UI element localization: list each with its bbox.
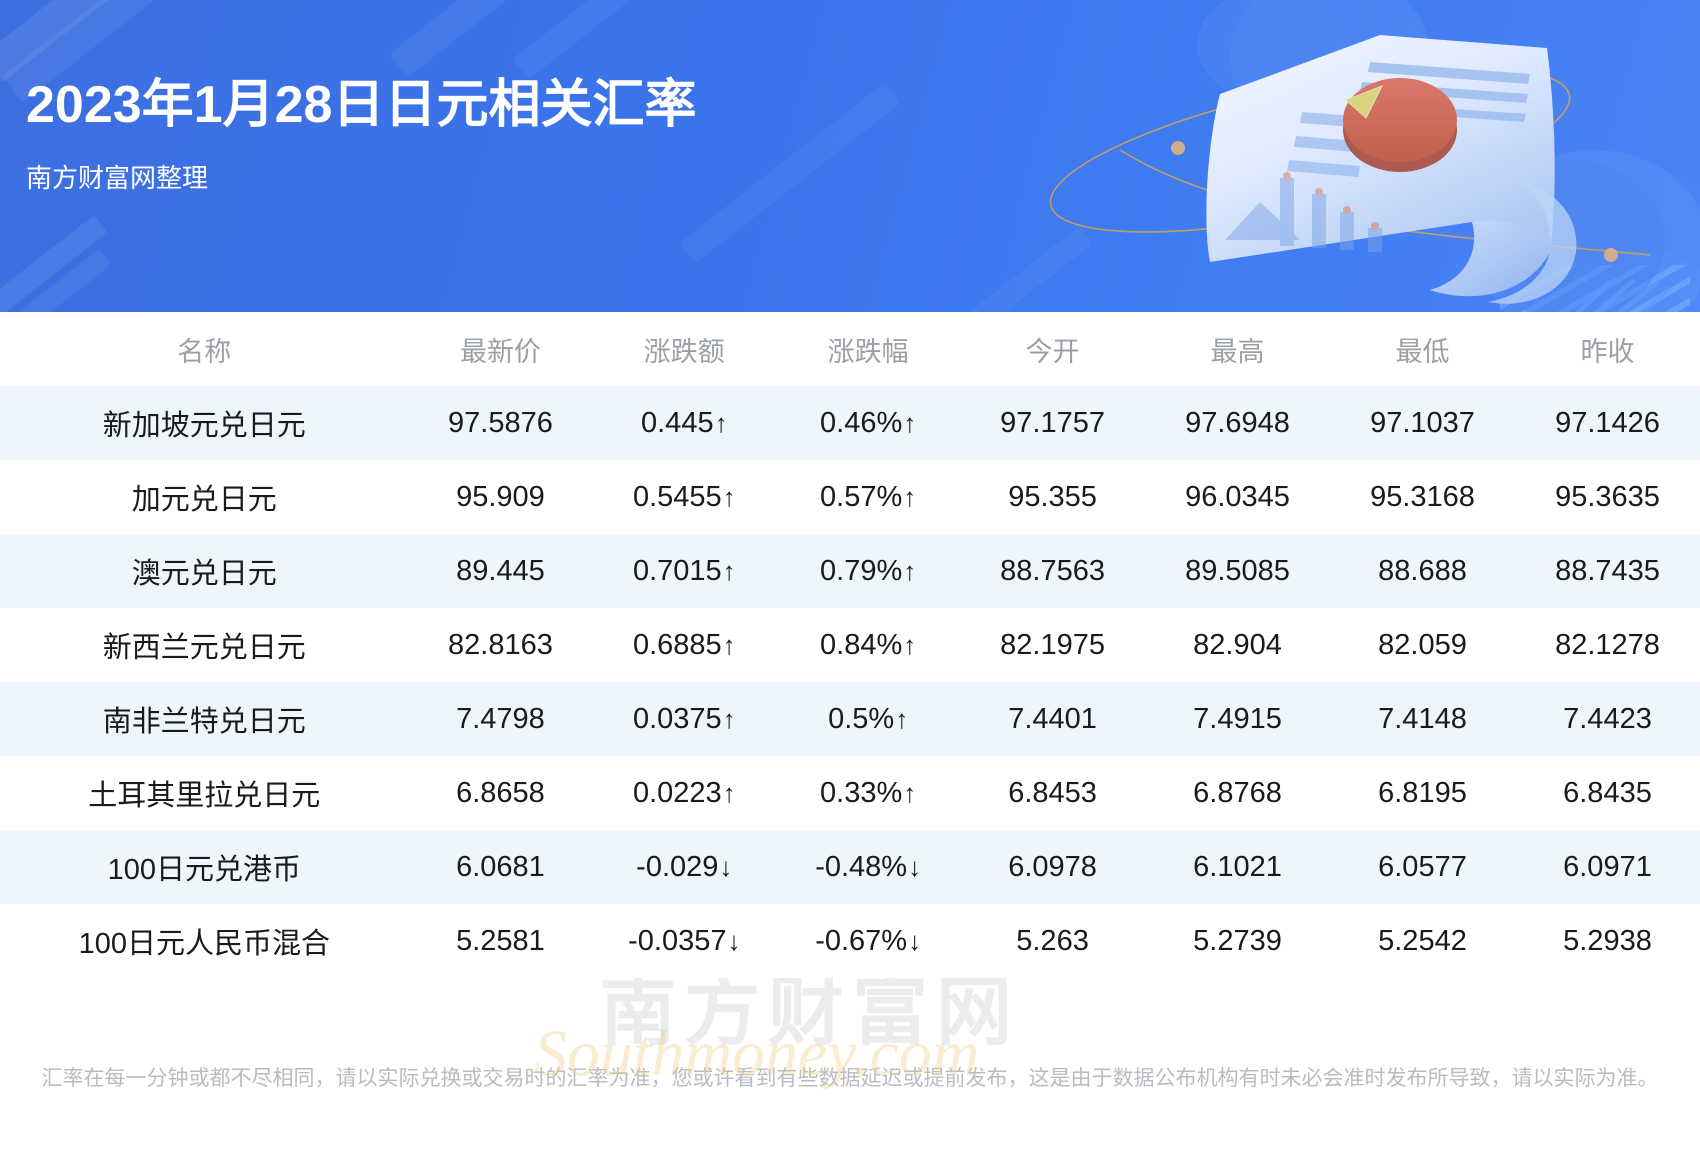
column-header-pct[interactable]: 涨跌幅 <box>776 312 960 386</box>
disclaimer-note: 汇率在每一分钟或都不尽相同，请以实际兑换或交易时的汇率为准，您或许看到有些数据延… <box>0 1062 1700 1092</box>
cell-change-amount: 0.7015↑ <box>592 534 776 608</box>
page-header-banner: 2023年1月28日日元相关汇率 南方财富网整理 <box>0 0 1700 312</box>
cell-high-price: 89.5085 <box>1145 534 1330 608</box>
cell-change-amount: -0.0357↓ <box>592 904 776 978</box>
table-row[interactable]: 100日元兑港币6.0681-0.029↓-0.48%↓6.09786.1021… <box>0 830 1700 904</box>
cell-change-amount: 0.5455↑ <box>592 460 776 534</box>
cell-last-price: 7.4798 <box>409 682 593 756</box>
cell-change-percent: 0.57%↑ <box>776 460 960 534</box>
cell-change-amount: 0.445↑ <box>592 386 776 460</box>
cell-open-price: 82.1975 <box>960 608 1145 682</box>
table-row[interactable]: 新加坡元兑日元97.58760.445↑0.46%↑97.175797.6948… <box>0 386 1700 460</box>
cell-low-price: 5.2542 <box>1330 904 1515 978</box>
arrow-up-icon: ↑ <box>723 482 736 512</box>
cell-change-percent: 0.5%↑ <box>776 682 960 756</box>
cell-currency-name: 澳元兑日元 <box>0 534 409 608</box>
cell-open-price: 5.263 <box>960 904 1145 978</box>
cell-low-price: 88.688 <box>1330 534 1515 608</box>
cell-low-price: 95.3168 <box>1330 460 1515 534</box>
cell-high-price: 5.2739 <box>1145 904 1330 978</box>
cell-change-amount: 0.0223↑ <box>592 756 776 830</box>
table-row[interactable]: 100日元人民币混合5.2581-0.0357↓-0.67%↓5.2635.27… <box>0 904 1700 978</box>
cell-change-percent: -0.48%↓ <box>776 830 960 904</box>
column-header-change[interactable]: 涨跌额 <box>592 312 776 386</box>
cell-high-price: 6.1021 <box>1145 830 1330 904</box>
cell-low-price: 6.8195 <box>1330 756 1515 830</box>
cell-change-percent: -0.67%↓ <box>776 904 960 978</box>
cell-low-price: 6.0577 <box>1330 830 1515 904</box>
cell-last-price: 97.5876 <box>409 386 593 460</box>
table-row[interactable]: 土耳其里拉兑日元6.86580.0223↑0.33%↑6.84536.87686… <box>0 756 1700 830</box>
cell-last-price: 6.0681 <box>409 830 593 904</box>
table-row[interactable]: 南非兰特兑日元7.47980.0375↑0.5%↑7.44017.49157.4… <box>0 682 1700 756</box>
cell-prev-close: 88.7435 <box>1515 534 1700 608</box>
cell-high-price: 82.904 <box>1145 608 1330 682</box>
arrow-down-icon: ↓ <box>908 852 921 882</box>
column-header-last[interactable]: 最新价 <box>409 312 593 386</box>
cell-change-percent: 0.46%↑ <box>776 386 960 460</box>
arrow-down-icon: ↓ <box>719 852 732 882</box>
cell-prev-close: 6.0971 <box>1515 830 1700 904</box>
arrow-up-icon: ↑ <box>723 630 736 660</box>
cell-currency-name: 新加坡元兑日元 <box>0 386 409 460</box>
table-row[interactable]: 新西兰元兑日元82.81630.6885↑0.84%↑82.197582.904… <box>0 608 1700 682</box>
arrow-down-icon: ↓ <box>908 926 921 956</box>
table-body: 新加坡元兑日元97.58760.445↑0.46%↑97.175797.6948… <box>0 386 1700 978</box>
cell-high-price: 6.8768 <box>1145 756 1330 830</box>
cell-open-price: 6.0978 <box>960 830 1145 904</box>
arrow-up-icon: ↑ <box>903 482 916 512</box>
cell-currency-name: 新西兰元兑日元 <box>0 608 409 682</box>
arrow-up-icon: ↑ <box>895 704 908 734</box>
financial-report-illustration <box>1010 0 1670 312</box>
arrow-up-icon: ↑ <box>723 778 736 808</box>
cell-prev-close: 97.1426 <box>1515 386 1700 460</box>
cell-open-price: 6.8453 <box>960 756 1145 830</box>
cell-last-price: 5.2581 <box>409 904 593 978</box>
cell-change-amount: 0.6885↑ <box>592 608 776 682</box>
cell-low-price: 7.4148 <box>1330 682 1515 756</box>
cell-last-price: 6.8658 <box>409 756 593 830</box>
cell-prev-close: 6.8435 <box>1515 756 1700 830</box>
cell-last-price: 89.445 <box>409 534 593 608</box>
cell-currency-name: 100日元人民币混合 <box>0 904 409 978</box>
cell-open-price: 97.1757 <box>960 386 1145 460</box>
table-header: 名称 最新价 涨跌额 涨跌幅 今开 最高 最低 昨收 <box>0 312 1700 386</box>
table-row[interactable]: 加元兑日元95.9090.5455↑0.57%↑95.35596.034595.… <box>0 460 1700 534</box>
arrow-up-icon: ↑ <box>723 704 736 734</box>
cell-currency-name: 土耳其里拉兑日元 <box>0 756 409 830</box>
cell-high-price: 96.0345 <box>1145 460 1330 534</box>
cell-change-amount: 0.0375↑ <box>592 682 776 756</box>
cell-change-percent: 0.79%↑ <box>776 534 960 608</box>
cell-change-percent: 0.33%↑ <box>776 756 960 830</box>
page-title: 2023年1月28日日元相关汇率 <box>26 62 696 137</box>
cell-currency-name: 100日元兑港币 <box>0 830 409 904</box>
column-header-prev[interactable]: 昨收 <box>1515 312 1700 386</box>
pie-chart-graphic <box>1343 78 1457 172</box>
cell-low-price: 82.059 <box>1330 608 1515 682</box>
cell-open-price: 7.4401 <box>960 682 1145 756</box>
cell-change-percent: 0.84%↑ <box>776 608 960 682</box>
cell-high-price: 97.6948 <box>1145 386 1330 460</box>
arrow-up-icon: ↑ <box>903 630 916 660</box>
arrow-down-icon: ↓ <box>727 926 740 956</box>
cell-change-amount: -0.029↓ <box>592 830 776 904</box>
arrow-up-icon: ↑ <box>903 778 916 808</box>
cell-prev-close: 82.1278 <box>1515 608 1700 682</box>
cell-prev-close: 5.2938 <box>1515 904 1700 978</box>
arrow-up-icon: ↑ <box>723 556 736 586</box>
cell-open-price: 95.355 <box>960 460 1145 534</box>
cell-currency-name: 加元兑日元 <box>0 460 409 534</box>
cell-currency-name: 南非兰特兑日元 <box>0 682 409 756</box>
table-row[interactable]: 澳元兑日元89.4450.7015↑0.79%↑88.756389.508588… <box>0 534 1700 608</box>
column-header-name[interactable]: 名称 <box>0 312 409 386</box>
column-header-open[interactable]: 今开 <box>960 312 1145 386</box>
table-header-row: 名称 最新价 涨跌额 涨跌幅 今开 最高 最低 昨收 <box>0 312 1700 386</box>
arrow-up-icon: ↑ <box>903 556 916 586</box>
arrow-up-icon: ↑ <box>715 408 728 438</box>
arrow-up-icon: ↑ <box>903 408 916 438</box>
column-header-high[interactable]: 最高 <box>1145 312 1330 386</box>
column-header-low[interactable]: 最低 <box>1330 312 1515 386</box>
cell-prev-close: 7.4423 <box>1515 682 1700 756</box>
cell-open-price: 88.7563 <box>960 534 1145 608</box>
exchange-rates-table: 名称 最新价 涨跌额 涨跌幅 今开 最高 最低 昨收 新加坡元兑日元97.587… <box>0 312 1700 978</box>
page-subtitle: 南方财富网整理 <box>26 158 208 195</box>
rates-table-container: 南方财富网 Southmoney.com 名称 最新价 涨跌额 涨跌幅 今开 最… <box>0 312 1700 978</box>
cell-low-price: 97.1037 <box>1330 386 1515 460</box>
cell-last-price: 95.909 <box>409 460 593 534</box>
cell-high-price: 7.4915 <box>1145 682 1330 756</box>
cell-prev-close: 95.3635 <box>1515 460 1700 534</box>
cell-last-price: 82.8163 <box>409 608 593 682</box>
